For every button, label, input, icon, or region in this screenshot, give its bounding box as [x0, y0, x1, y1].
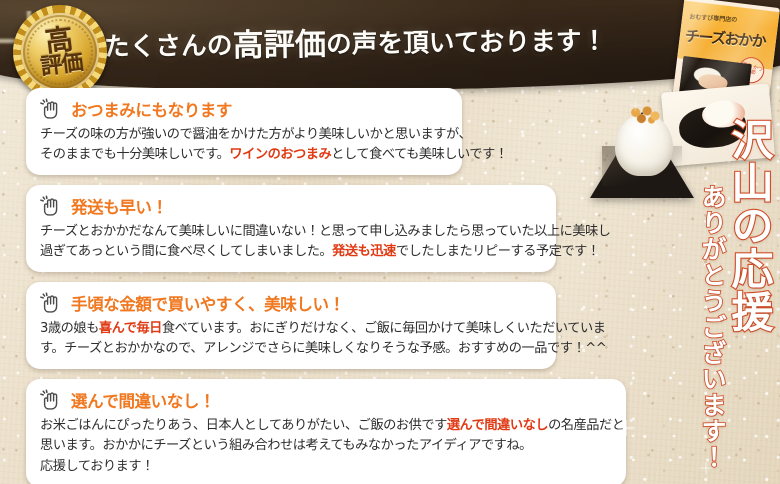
review-highlight-text: 発送も迅速 — [332, 244, 396, 259]
review-line: 3歳の娘も喜んで毎日食べています。おにぎりだけなく、ご飯に毎回かけて美味しくいた… — [40, 319, 542, 339]
review-text: 3歳の娘も — [40, 321, 99, 336]
review-title: 選んで間違いなし！ — [71, 388, 215, 412]
review-card: おつまみにもなりますチーズの味の方が強いので醤油をかけた方がより美味しいかと思い… — [26, 88, 462, 175]
review-text: の名産品だと — [548, 418, 624, 433]
review-text: 食べています。おにぎりだけなく、ご飯に毎回かけて美味しくいただいていま — [162, 321, 606, 336]
title-highlight: 高評価 — [232, 27, 326, 64]
review-line: 思います。おかかにチーズという組み合わせは考えてもみなかったアイディアですね。 — [40, 436, 612, 456]
review-body: チーズの味の方が強いので醤油をかけた方がより美味しいかと思いますが、そのままでも… — [40, 125, 448, 165]
review-line: 過ぎてあっという間に食べ尽くしてしまいました。発送も迅速でしたしまたリピーする予… — [40, 242, 542, 262]
pointing-hand-icon — [40, 389, 64, 411]
review-line: そのままでも十分美味しいです。ワインのおつまみとして食べても美味しいです！ — [40, 145, 448, 165]
review-highlight-text: 選んで間違いなし — [447, 418, 548, 433]
review-card-header: おつまみにもなります — [40, 97, 448, 121]
review-card: 手頃な金額で買いやすく、美味しい！3歳の娘も喜んで毎日食べています。おにぎりだけ… — [26, 282, 556, 369]
review-text: 応援しております！ — [40, 459, 154, 474]
review-highlight-text: ワインのおつまみ — [229, 147, 331, 162]
review-line: 応援しております！ — [40, 457, 612, 477]
review-line: チーズの味の方が強いので醤油をかけた方がより美味しいかと思いますが、 — [40, 125, 448, 145]
review-text: チーズとおかかだなんて美味しいに間違いない！と思って申し込みましたら思っていた以… — [40, 224, 611, 239]
review-card: 発送も早い！チーズとおかかだなんて美味しいに間違いない！と思って申し込みましたら… — [26, 185, 556, 272]
review-card: 選んで間違いなし！お米ごはんにぴったりあう、日本人としてありがたい、ご飯のお供で… — [26, 379, 626, 484]
review-title: 手頃な金額で買いやすく、美味しい！ — [71, 291, 345, 315]
review-card-header: 手頃な金額で買いやすく、美味しい！ — [40, 291, 542, 315]
review-body: 3歳の娘も喜んで毎日食べています。おにぎりだけなく、ご飯に毎回かけて美味しくいた… — [40, 319, 542, 359]
review-line: チーズとおかかだなんて美味しいに間違いない！と思って申し込みましたら思っていた以… — [40, 222, 542, 242]
review-text: チーズの味の方が強いので醤油をかけた方がより美味しいかと思いますが、 — [40, 127, 471, 142]
review-text: す。チーズとおかかなので、アレンジでさらに美味しくなりそうな予感。おすすめの一品… — [40, 341, 606, 356]
sparkle-icon — [630, 100, 641, 111]
review-line: す。チーズとおかかなので、アレンジでさらに美味しくなりそうな予感。おすすめの一品… — [40, 339, 542, 359]
title-suffix: の声を頂いております！ — [326, 26, 608, 59]
review-title: 発送も早い！ — [71, 194, 168, 218]
sparkle-icon — [618, 420, 634, 436]
sparkle-icon — [700, 462, 712, 474]
review-text: そのままでも十分美味しいです。 — [40, 147, 229, 162]
page-title: たくさんの高評価の声を頂いております！ — [104, 15, 665, 67]
review-text: でしたしまたリピーする予定です！ — [396, 244, 600, 259]
review-text: 思います。おかかにチーズという組み合わせは考えてもみなかったアイディアですね。 — [40, 438, 532, 453]
reviews-list: おつまみにもなりますチーズの味の方が強いので醤油をかけた方がより美味しいかと思い… — [26, 88, 626, 484]
review-text: お米ごはんにぴったりあう、日本人としてありがたい、ご飯のお供です — [40, 418, 447, 433]
badge-line-2: 評価 — [40, 53, 84, 79]
pointing-hand-icon — [40, 292, 64, 314]
review-text: 過ぎてあっという間に食べ尽くしてしまいました。 — [40, 244, 332, 259]
review-body: チーズとおかかだなんて美味しいに間違いない！と思って申し込みましたら思っていた以… — [40, 222, 542, 262]
review-title: おつまみにもなります — [71, 97, 232, 121]
review-card-header: 選んで間違いなし！ — [40, 388, 612, 412]
pointing-hand-icon — [40, 98, 64, 120]
review-line: お米ごはんにぴったりあう、日本人としてありがたい、ご飯のお供です選んで間違いなし… — [40, 416, 612, 436]
promo-banner: たくさんの高評価の声を頂いております！ 高 評価 おむすび専門店の チーズおかか… — [0, 0, 780, 484]
review-card-header: 発送も早い！ — [40, 194, 542, 218]
review-highlight-text: 喜んで毎日 — [99, 321, 162, 336]
title-prefix: たくさんの — [104, 31, 233, 63]
pointing-hand-icon — [40, 195, 64, 217]
high-rating-badge: 高 評価 — [11, 3, 109, 101]
review-text: として食べても美味しいです！ — [331, 147, 507, 162]
review-body: お米ごはんにぴったりあう、日本人としてありがたい、ご飯のお供です選んで間違いなし… — [40, 416, 612, 476]
